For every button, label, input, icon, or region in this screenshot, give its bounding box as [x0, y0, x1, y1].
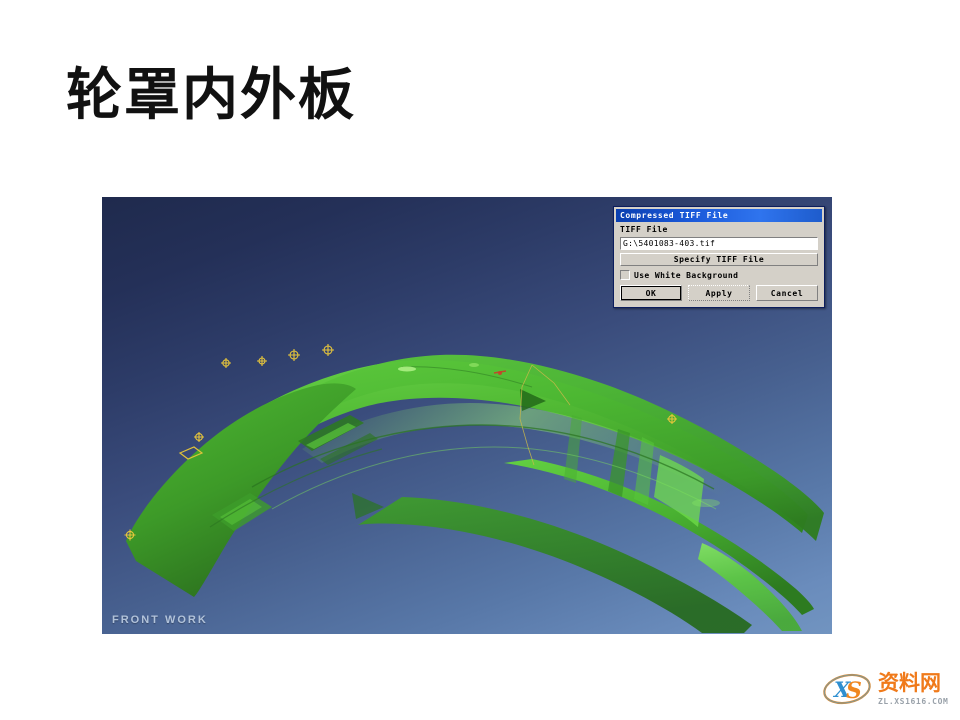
- dialog-body: TIFF File G:\5401083-403.tif Specify TIF…: [616, 222, 822, 305]
- watermark-text: 资料网 ZL.XS1616.COM: [878, 673, 948, 706]
- dialog-title: Compressed TIFF File: [620, 211, 728, 220]
- svg-text:S: S: [846, 678, 862, 704]
- page-title: 轮罩内外板: [66, 62, 356, 129]
- tiff-path-input[interactable]: G:\5401083-403.tif: [620, 237, 818, 250]
- watermark-site-name: 资料网: [878, 673, 948, 694]
- use-white-background-label: Use White Background: [634, 271, 738, 280]
- viewport-status-label: FRONT WORK: [112, 614, 208, 626]
- cancel-button[interactable]: Cancel: [756, 285, 818, 301]
- dialog-button-row: OK Apply Cancel: [620, 285, 818, 301]
- xs-logo-icon: X S: [820, 669, 874, 709]
- apply-button[interactable]: Apply: [688, 285, 750, 301]
- use-white-background-checkbox[interactable]: [620, 270, 630, 280]
- watermark: X S 资料网 ZL.XS1616.COM: [820, 666, 952, 712]
- dialog-titlebar[interactable]: Compressed TIFF File: [616, 209, 822, 222]
- ok-button[interactable]: OK: [620, 285, 682, 301]
- specify-tiff-file-button[interactable]: Specify TIFF File: [620, 253, 818, 266]
- use-white-background-row[interactable]: Use White Background: [620, 270, 818, 280]
- watermark-url: ZL.XS1616.COM: [878, 697, 948, 706]
- tiff-file-label: TIFF File: [620, 225, 818, 234]
- compressed-tiff-file-dialog[interactable]: Compressed TIFF File TIFF File G:\540108…: [613, 206, 825, 308]
